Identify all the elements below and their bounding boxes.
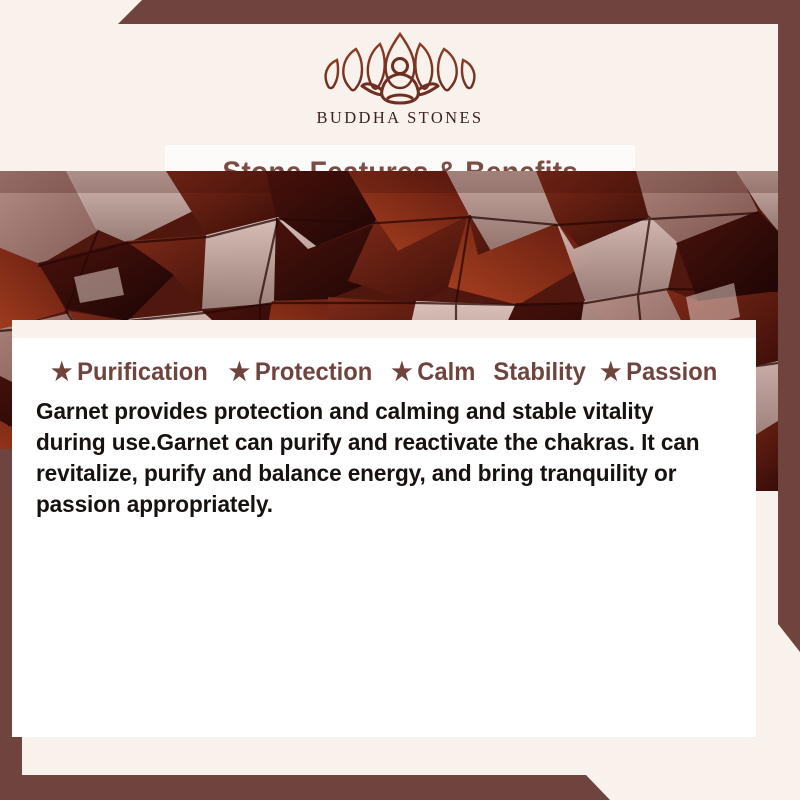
brand-logo: BUDDHA STONES	[22, 24, 778, 140]
star-icon: ★	[52, 360, 73, 385]
benefit-item-stability: Stability	[493, 358, 585, 387]
frame-band-top	[0, 0, 800, 24]
benefit-label: Purification	[78, 358, 209, 387]
card-top-fade	[12, 320, 756, 338]
product-info-poster: BUDDHA STONES Stone Features & Benefits	[0, 0, 800, 800]
benefit-label: Passion	[626, 358, 717, 387]
benefit-label: Calm	[418, 358, 476, 387]
stone-description: Garnet provides protection and calming a…	[36, 396, 720, 520]
benefit-item-purification: ★ Purification	[52, 358, 209, 387]
star-icon: ★	[392, 360, 413, 385]
frame-band-bottom	[0, 775, 800, 800]
frame-band-right	[778, 0, 800, 652]
benefit-item-passion: ★ Passion	[600, 358, 717, 387]
benefits-row: ★ Purification ★ Protection ★ Calm Stabi…	[12, 358, 756, 387]
benefit-item-protection: ★ Protection	[229, 358, 372, 387]
benefit-item-calm: ★ Calm	[392, 358, 476, 387]
star-icon: ★	[229, 360, 250, 385]
lotus-meditation-icon	[312, 30, 488, 112]
benefit-label: Protection	[255, 358, 372, 387]
content-card: ★ Purification ★ Protection ★ Calm Stabi…	[12, 320, 756, 737]
star-icon: ★	[600, 360, 621, 385]
benefit-label: Stability	[493, 358, 585, 387]
brand-wordmark: BUDDHA STONES	[316, 108, 483, 128]
